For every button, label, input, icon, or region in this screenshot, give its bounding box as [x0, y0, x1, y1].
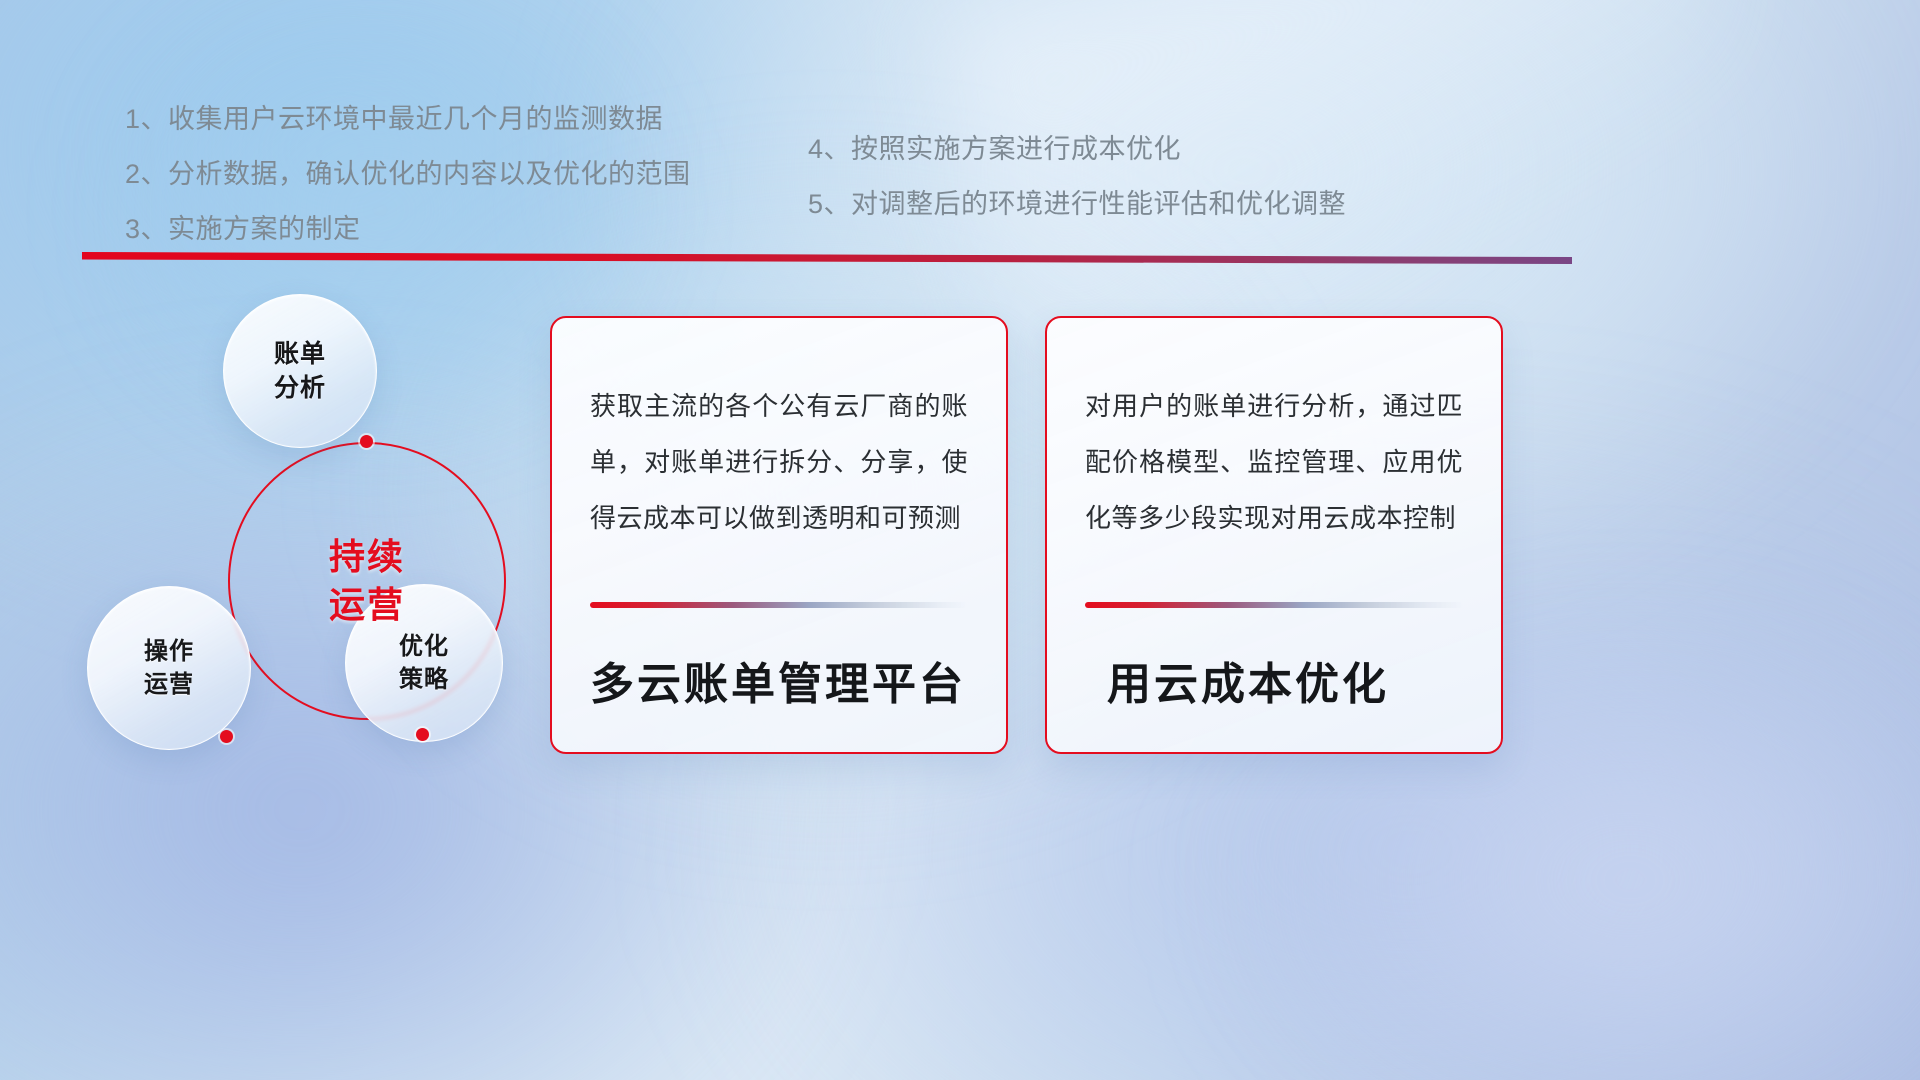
- venn-circle-diagram: 账单 分析 操作 运营 优化 策略 持续 运营: [75, 286, 545, 766]
- step-item-1: 1、收集用户云环境中最近几个月的监测数据: [125, 92, 691, 147]
- bubble-label-bill-analysis: 账单 分析: [274, 337, 326, 405]
- steps-column-right: 4、按照实施方案进行成本优化 5、对调整后的环境进行性能评估和优化调整: [808, 122, 1346, 232]
- bubble-bill-analysis[interactable]: 账单 分析: [223, 294, 377, 448]
- ring-center-label: 持续 运营: [329, 533, 405, 629]
- card2-title: 用云成本优化: [1047, 648, 1501, 712]
- card-cloud-cost-optimization[interactable]: 对用户的账单进行分析，通过匹配价格模型、监控管理、应用优化等多少段实现对用云成本…: [1045, 316, 1503, 754]
- bubble-bill-analysis-line2: 分析: [274, 374, 326, 402]
- step-item-5: 5、对调整后的环境进行性能评估和优化调整: [808, 177, 1346, 232]
- ring-center-line2: 运营: [329, 584, 405, 625]
- step-item-3: 3、实施方案的制定: [125, 202, 691, 257]
- bubble-bill-analysis-line1: 账单: [274, 340, 326, 368]
- bubble-operations-line2: 运营: [144, 671, 194, 698]
- ring-node-dot-bottom-right: [416, 728, 429, 741]
- card1-title: 多云账单管理平台: [552, 648, 1006, 712]
- steps-column-left: 1、收集用户云环境中最近几个月的监测数据 2、分析数据，确认优化的内容以及优化的…: [125, 92, 691, 257]
- card1-body-text: 获取主流的各个公有云厂商的账单，对账单进行拆分、分享，使得云成本可以做到透明和可…: [590, 378, 968, 546]
- step-item-4: 4、按照实施方案进行成本优化: [808, 122, 1346, 177]
- ring-center-line1: 持续: [329, 536, 405, 577]
- red-divider-line: [82, 252, 1572, 264]
- bubble-operations[interactable]: 操作 运营: [87, 586, 251, 750]
- card-multi-cloud-billing[interactable]: 获取主流的各个公有云厂商的账单，对账单进行拆分、分享，使得云成本可以做到透明和可…: [550, 316, 1008, 754]
- ring-node-dot-top: [360, 435, 373, 448]
- bubble-operations-line1: 操作: [144, 638, 194, 665]
- steps-list: 1、收集用户云环境中最近几个月的监测数据 2、分析数据，确认优化的内容以及优化的…: [0, 0, 1920, 270]
- card2-accent-rule: [1085, 602, 1463, 608]
- ring-node-dot-bottom-left: [220, 730, 233, 743]
- divider-bar: [82, 252, 1572, 264]
- card2-body-text: 对用户的账单进行分析，通过匹配价格模型、监控管理、应用优化等多少段实现对用云成本…: [1085, 378, 1463, 546]
- card1-accent-rule: [590, 602, 968, 608]
- bubble-label-operations: 操作 运营: [144, 635, 194, 701]
- ring-center-label-wrap: 持续 运营: [228, 442, 506, 720]
- step-item-2: 2、分析数据，确认优化的内容以及优化的范围: [125, 147, 691, 202]
